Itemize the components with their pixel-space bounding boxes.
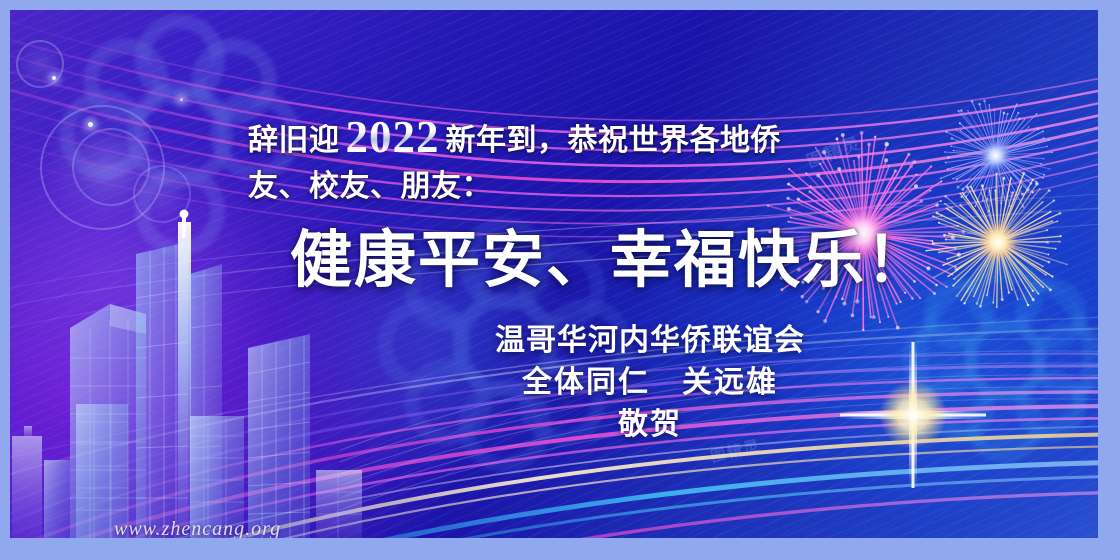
signature-block: 温哥华河内华侨联谊会 全体同仁 关远雄 敬贺 xyxy=(440,320,860,446)
page-title: 健康平安、幸福快乐！ xyxy=(290,224,930,298)
stock-watermark-secondary: 图精灵 xyxy=(708,434,763,467)
intro-line-2: 友、校友、朋友： xyxy=(248,170,492,203)
glow-blob-left xyxy=(10,130,270,430)
bokeh-ring-large xyxy=(40,105,165,230)
building-tall-tower xyxy=(136,242,188,538)
building-mid-left xyxy=(76,404,128,538)
artwork-plate: 图精灵 图精灵 辞旧迎2022新年到，恭祝世界各地侨 友、校友、朋友： 健康平安… xyxy=(10,10,1098,538)
decorative-arcs xyxy=(10,10,1098,538)
firework-blue xyxy=(928,88,1063,223)
new-year-greeting-banner: 图精灵 图精灵 辞旧迎2022新年到，恭祝世界各地侨 友、校友、朋友： 健康平安… xyxy=(0,0,1120,560)
flare-dot-a xyxy=(88,122,93,127)
building-right-grid xyxy=(248,334,310,538)
year-2022: 2022 xyxy=(340,112,446,162)
bottom-ribbon-group xyxy=(10,316,1098,538)
bokeh-ring-upper xyxy=(16,40,64,88)
intro-paragraph: 辞旧迎2022新年到，恭祝世界各地侨 友、校友、朋友： xyxy=(248,114,868,210)
firework-magenta xyxy=(758,128,968,338)
city-skyline xyxy=(10,208,370,538)
stripe-texture-secondary xyxy=(10,10,1098,538)
top-magenta-arc-group xyxy=(10,16,1098,237)
building-stepped xyxy=(70,304,146,538)
building-mid-grid xyxy=(190,416,244,538)
floral-pattern-center xyxy=(340,195,670,495)
signature-salutation: 敬贺 xyxy=(440,404,860,446)
floral-pattern-right xyxy=(860,225,1098,495)
floral-pattern-topleft xyxy=(30,10,330,270)
signature-organization: 温哥华河内华侨联谊会 xyxy=(440,320,860,362)
building-far-left xyxy=(12,426,70,538)
building-far-right xyxy=(316,470,362,538)
mid-white-swoosh-group xyxy=(10,192,1098,332)
bokeh-ring-medium xyxy=(72,128,150,206)
bokeh-ring-small xyxy=(133,165,191,223)
signature-members: 全体同仁 关远雄 xyxy=(440,362,860,404)
stripe-texture-primary xyxy=(10,10,1098,538)
intro-prefix: 辞旧迎 xyxy=(248,124,340,157)
site-url-watermark: www.zhencang.org xyxy=(114,518,281,538)
flare-dot-b xyxy=(52,76,56,80)
firework-gold xyxy=(918,162,1078,322)
flare-dot-c xyxy=(180,98,183,101)
glow-blob-right xyxy=(770,210,1098,510)
building-spire xyxy=(178,210,191,539)
star-flare xyxy=(838,340,988,490)
building-right-tower xyxy=(190,264,222,538)
glow-blob-center xyxy=(260,210,620,470)
fan-line-group xyxy=(340,339,1098,510)
stock-watermark: 图精灵 xyxy=(802,129,864,173)
greeting-copy: 辞旧迎2022新年到，恭祝世界各地侨 友、校友、朋友： 健康平安、幸福快乐！ 温… xyxy=(10,10,1098,538)
intro-suffix: 新年到，恭祝世界各地侨 xyxy=(446,124,782,157)
